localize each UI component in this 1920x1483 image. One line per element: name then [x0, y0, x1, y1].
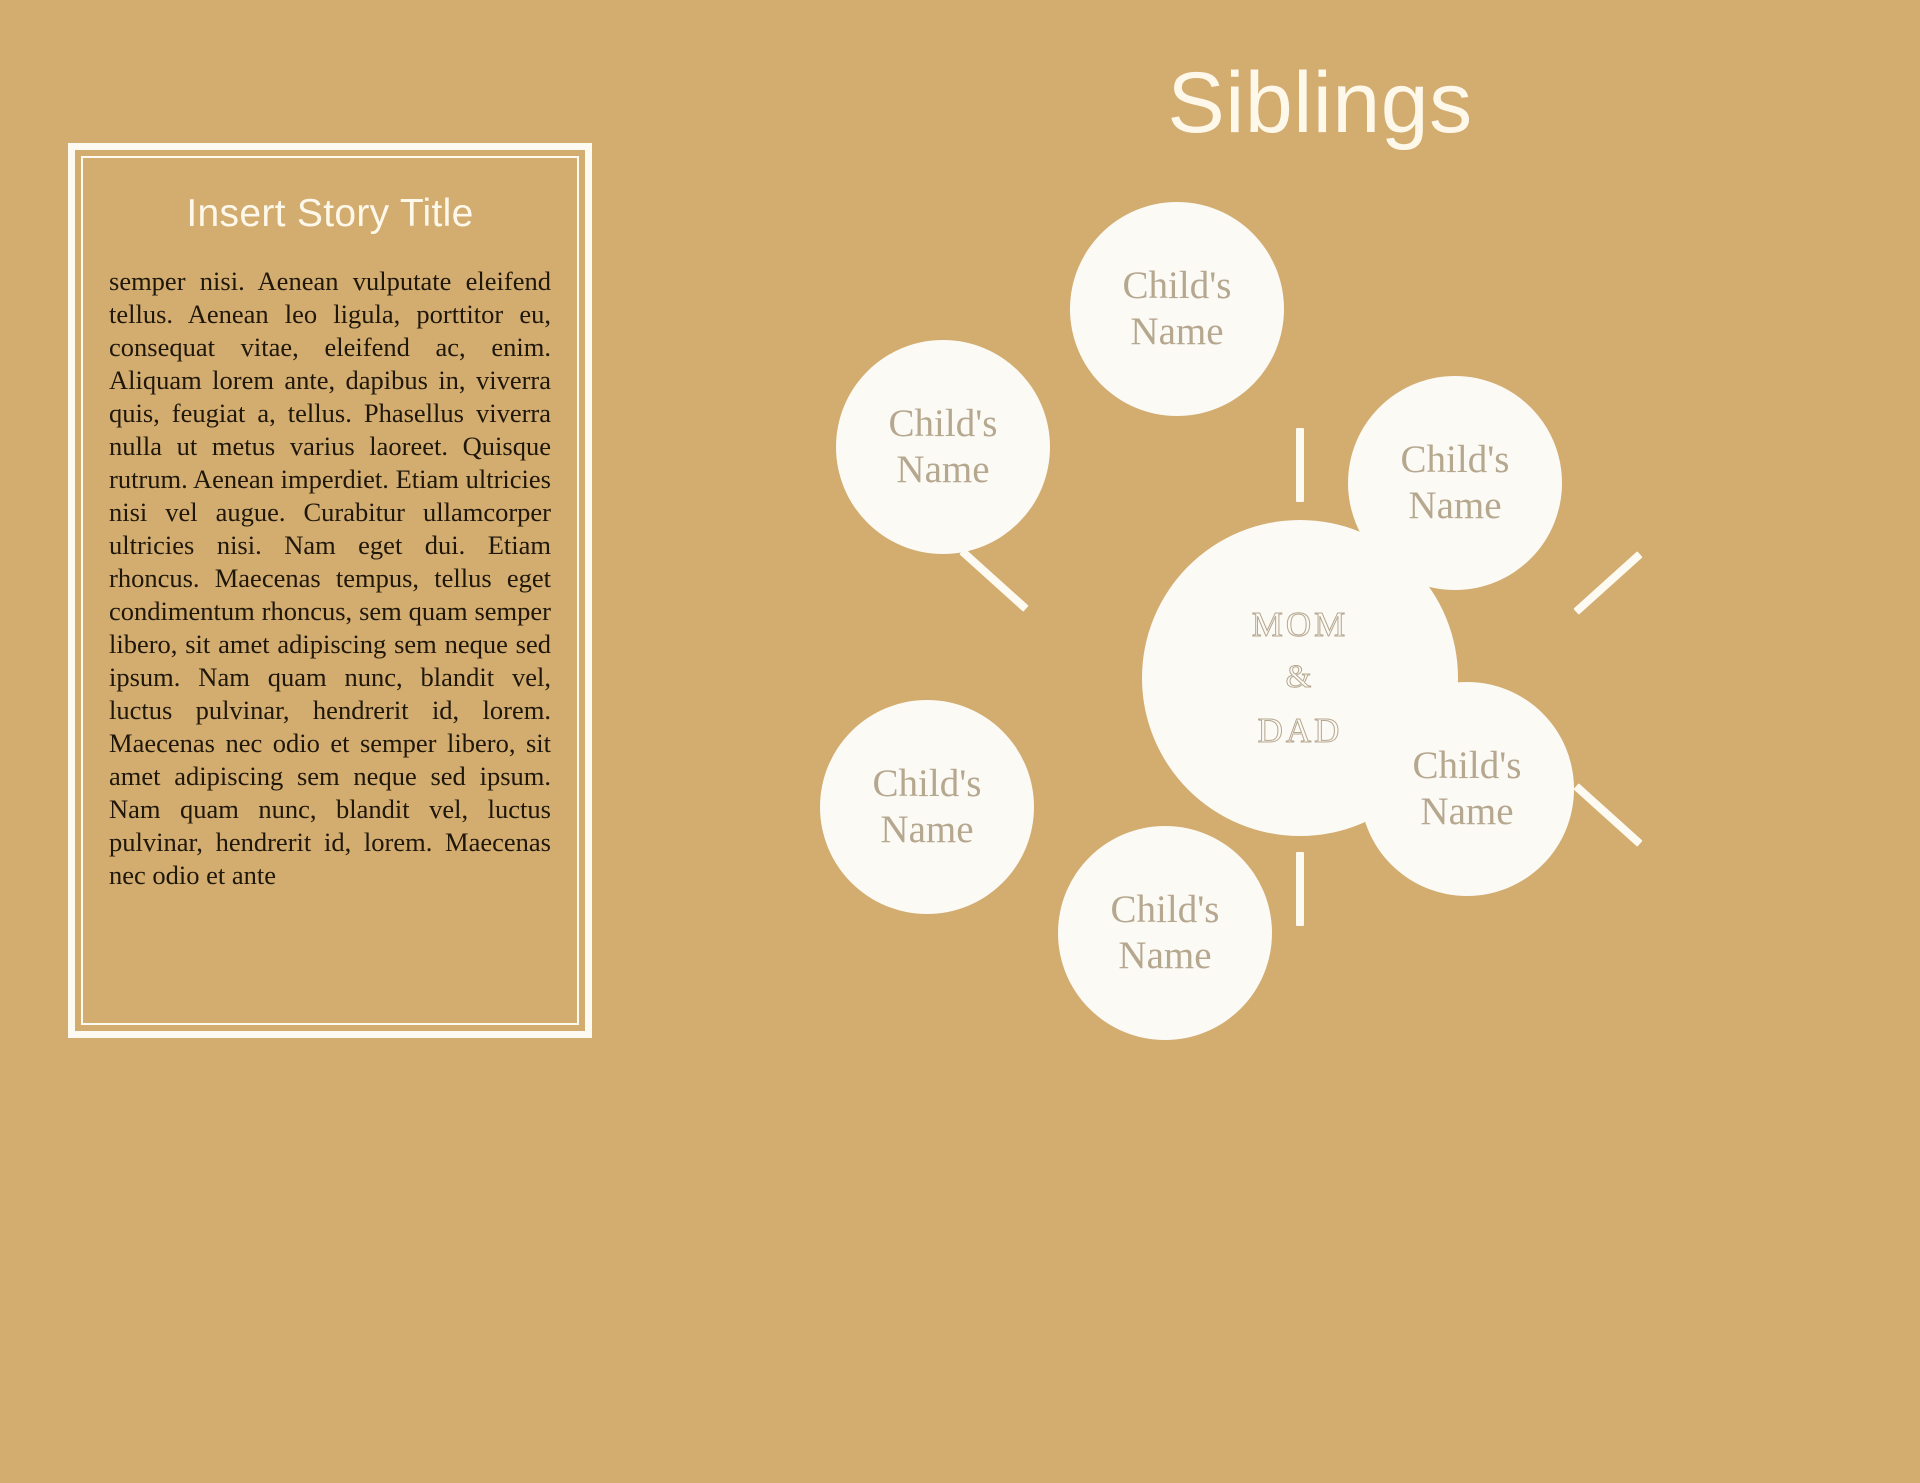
parents-label-line1: MOM	[1252, 598, 1349, 652]
page-title: Siblings	[960, 58, 1680, 148]
connector-bottom	[1296, 852, 1304, 926]
child-label: Child'sName	[1413, 743, 1522, 835]
slide-canvas: Siblings Insert Story Title semper nisi.…	[0, 0, 1920, 1483]
node-child-bottom[interactable]: Child'sName	[1058, 826, 1272, 1040]
connector-top-left	[959, 548, 1028, 611]
connector-bottom-right	[1573, 783, 1642, 846]
parents-label-line3: DAD	[1252, 704, 1349, 758]
node-child-top-left[interactable]: Child'sName	[836, 340, 1050, 554]
node-child-bottom-right[interactable]: Child'sName	[1360, 682, 1574, 896]
child-label: Child'sName	[1401, 437, 1510, 529]
child-label: Child'sName	[1123, 263, 1232, 355]
story-card-inner-frame: Insert Story Title semper nisi. Aenean v…	[81, 156, 579, 1025]
parents-label-ampersand: &	[1252, 652, 1349, 703]
node-child-top[interactable]: Child'sName	[1070, 202, 1284, 416]
story-title[interactable]: Insert Story Title	[103, 192, 557, 237]
story-card[interactable]: Insert Story Title semper nisi. Aenean v…	[68, 143, 592, 1038]
connector-top-right	[1573, 551, 1642, 614]
child-label: Child'sName	[873, 761, 982, 853]
story-body-text[interactable]: semper nisi. Aenean vulputate eleifend t…	[103, 265, 557, 892]
connector-top	[1296, 428, 1304, 502]
node-child-top-right[interactable]: Child'sName	[1348, 376, 1562, 590]
family-diagram: MOM & DAD Child'sName Child'sName Child'…	[820, 180, 1820, 1190]
parents-label: MOM & DAD	[1252, 598, 1349, 758]
child-label: Child'sName	[889, 401, 998, 493]
node-child-bottom-left[interactable]: Child'sName	[820, 700, 1034, 914]
child-label: Child'sName	[1111, 887, 1220, 979]
